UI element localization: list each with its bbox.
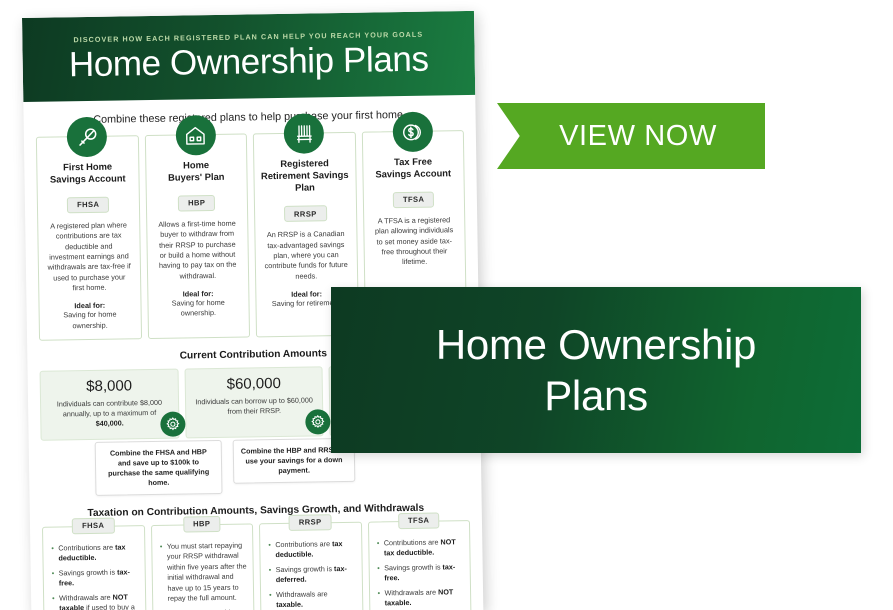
item-pre: Withdrawals are bbox=[276, 589, 328, 599]
item-pre: You must start repaying your RRSP withdr… bbox=[167, 540, 247, 603]
item-pre: Withdrawals are bbox=[384, 587, 438, 597]
plan-tag: RRSP bbox=[284, 205, 327, 222]
list-item: Contributions are tax deductible. bbox=[268, 538, 355, 560]
list-item: Withdrawals are NOT taxable. bbox=[377, 587, 464, 609]
taxation-list: Contributions are tax deductible. Saving… bbox=[49, 542, 139, 610]
gear-icon bbox=[305, 409, 330, 434]
dollar-coin-icon bbox=[392, 112, 433, 153]
item-bold: taxable. bbox=[276, 600, 303, 609]
list-item: Contributions are tax deductible. bbox=[51, 542, 138, 564]
contribution-card-hbp[interactable]: $60,000 Individuals can borrow up to $60… bbox=[184, 366, 324, 438]
view-now-button[interactable]: VIEW NOW bbox=[497, 103, 765, 169]
plan-description: Allows a first-time home buyer to withdr… bbox=[153, 219, 242, 283]
plan-description: A TFSA is a registered plan allowing ind… bbox=[370, 215, 459, 268]
document-header: DISCOVER HOW EACH REGISTERED PLAN CAN HE… bbox=[22, 11, 475, 102]
list-item: Withdrawals are NOT taxable if used to b… bbox=[52, 592, 139, 610]
plan-ideal-text: Saving for home ownership. bbox=[46, 310, 135, 332]
contribution-description: Individuals can borrow up to $60,000 fro… bbox=[193, 395, 316, 417]
contribution-amount: $8,000 bbox=[48, 377, 171, 396]
taxation-card-fhsa[interactable]: FHSA Contributions are tax deductible. S… bbox=[42, 525, 146, 610]
contribution-desc-pre: Individuals can borrow up to $60,000 fro… bbox=[195, 395, 313, 416]
taxation-list: You must start repaying your RRSP withdr… bbox=[158, 540, 248, 610]
list-item: Savings growth is tax-free. bbox=[377, 562, 464, 584]
screenshot-canvas: DISCOVER HOW EACH REGISTERED PLAN CAN HE… bbox=[0, 0, 893, 610]
item-pre: Contributions are bbox=[58, 542, 115, 552]
plan-name: First Home Savings Account bbox=[43, 160, 132, 186]
combine-note: Combine the FHSA and HBP and save up to … bbox=[95, 439, 223, 496]
list-item: You must start repaying your RRSP withdr… bbox=[160, 540, 247, 604]
plan-card-fhsa[interactable]: First Home Savings Account FHSA A regist… bbox=[36, 135, 142, 340]
item-pre: Savings growth is bbox=[276, 564, 334, 574]
taxation-tag: FHSA bbox=[72, 517, 115, 534]
taxation-card-hbp[interactable]: HBP You must start repaying your RRSP wi… bbox=[150, 523, 254, 610]
taxation-card-tfsa[interactable]: TFSA Contributions are NOT tax deductibl… bbox=[367, 520, 471, 610]
plan-tag: TFSA bbox=[393, 191, 435, 208]
plan-name: Tax Free Savings Account bbox=[369, 155, 458, 181]
contribution-desc-pre: Individuals can contribute $8,000 annual… bbox=[57, 398, 162, 419]
contribution-desc-bold: $40,000. bbox=[96, 419, 124, 428]
contribution-description: Individuals can contribute $8,000 annual… bbox=[48, 398, 171, 431]
item-pre: Contributions are bbox=[275, 539, 332, 549]
plan-tag: HBP bbox=[178, 195, 215, 212]
item-pre: Contributions are bbox=[384, 537, 441, 547]
document-title: Home Ownership Plans bbox=[36, 40, 461, 84]
plan-name: Registered Retirement Savings Plan bbox=[260, 157, 349, 195]
taxation-tag: HBP bbox=[183, 515, 220, 532]
plan-name: Home Buyers' Plan bbox=[152, 159, 241, 185]
taxation-list: Contributions are NOT tax deductible. Sa… bbox=[375, 537, 465, 609]
deck-chair-icon bbox=[284, 113, 325, 154]
house-icon bbox=[175, 115, 216, 156]
list-item: Contributions are NOT tax deductible. bbox=[377, 537, 464, 559]
title-overlay-panel[interactable]: Home Ownership Plans bbox=[331, 287, 861, 453]
taxation-card-row: FHSA Contributions are tax deductible. S… bbox=[39, 519, 475, 610]
taxation-list: Contributions are tax deductible. Saving… bbox=[266, 538, 356, 610]
list-item: Savings growth is tax-deferred. bbox=[269, 563, 356, 585]
key-icon bbox=[67, 117, 108, 158]
list-item: Withdrawals are taxable. bbox=[269, 588, 356, 610]
item-pre: Withdrawals are bbox=[59, 592, 113, 602]
plan-tag: FHSA bbox=[67, 197, 110, 214]
contribution-amount: $60,000 bbox=[192, 374, 315, 393]
taxation-card-rrsp[interactable]: RRSP Contributions are tax deductible. S… bbox=[259, 521, 363, 610]
item-pre: Savings growth is bbox=[59, 567, 117, 577]
contribution-card-fhsa[interactable]: $8,000 Individuals can contribute $8,000… bbox=[40, 368, 180, 440]
item-pre: Savings growth is bbox=[384, 562, 442, 572]
gear-icon bbox=[160, 411, 185, 436]
list-item: Savings growth is tax-free. bbox=[52, 567, 139, 589]
plan-card-hbp[interactable]: Home Buyers' Plan HBP Allows a first-tim… bbox=[144, 133, 250, 338]
taxation-tag: TFSA bbox=[398, 512, 440, 529]
plan-ideal-label bbox=[371, 275, 459, 276]
plan-ideal-text bbox=[371, 275, 459, 276]
plan-ideal-text: Saving for home ownership. bbox=[154, 298, 243, 320]
plan-description: A registered plan where contributions ar… bbox=[44, 220, 134, 294]
title-overlay-text: Home Ownership Plans bbox=[408, 319, 784, 421]
plan-description: An RRSP is a Canadian tax-advantaged sav… bbox=[261, 229, 350, 282]
taxation-tag: RRSP bbox=[289, 514, 332, 531]
